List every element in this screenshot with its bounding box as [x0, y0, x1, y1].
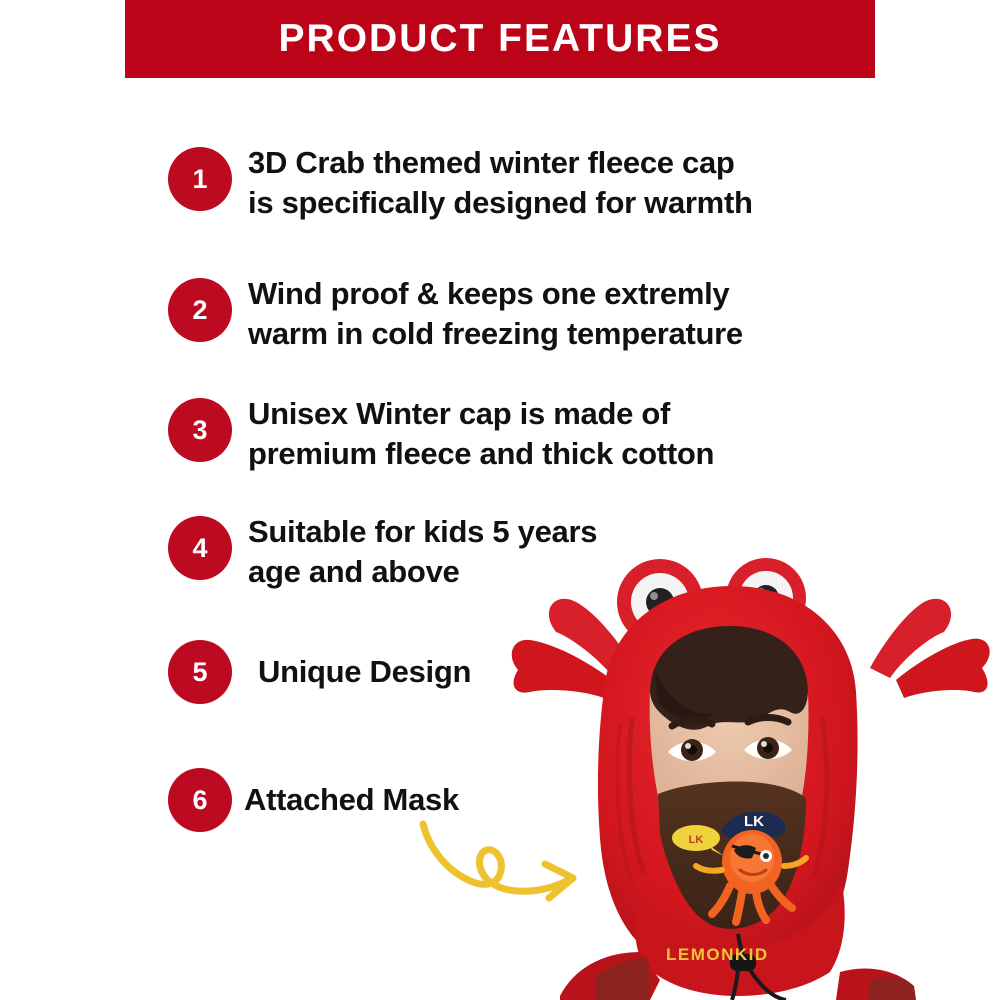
crab-claw-right [870, 599, 990, 698]
feature-text-2: Wind proof & keeps one extremly warm in … [248, 274, 743, 353]
feature-number-badge-5: 5 [168, 640, 232, 704]
feature-number-4: 4 [192, 535, 207, 562]
feature-number-2: 2 [192, 297, 207, 324]
feature-number-badge-1: 1 [168, 147, 232, 211]
feature-text-1-line1: 3D Crab themed winter fleece cap [248, 143, 753, 183]
feature-text-5-line1: Unique Design [258, 652, 471, 692]
feature-number-3: 3 [192, 417, 207, 444]
feature-number-6: 6 [192, 787, 207, 814]
feature-text-2-line1: Wind proof & keeps one extremly [248, 274, 743, 314]
feature-text-6: Attached Mask [244, 780, 459, 820]
feature-text-2-line2: warm in cold freezing temperature [248, 314, 743, 354]
product-features-infographic: PRODUCT FEATURES 1 3D Crab themed winter… [0, 0, 1000, 1000]
feature-number-badge-4: 4 [168, 516, 232, 580]
feature-text-1: 3D Crab themed winter fleece cap is spec… [248, 143, 753, 222]
feature-number-badge-3: 3 [168, 398, 232, 462]
svg-text:LK: LK [689, 834, 704, 846]
feature-text-5: Unique Design [258, 652, 471, 692]
product-photo: LK LK [500, 540, 1000, 1000]
feature-number-1: 1 [192, 166, 207, 193]
svg-text:LK: LK [744, 813, 764, 830]
feature-text-3: Unisex Winter cap is made of premium fle… [248, 394, 714, 473]
feature-text-3-line2: premium fleece and thick cotton [248, 434, 714, 474]
feature-text-6-line1: Attached Mask [244, 780, 459, 820]
feature-text-1-line2: is specifically designed for warmth [248, 183, 753, 223]
feature-number-5: 5 [192, 659, 207, 686]
feature-text-3-line1: Unisex Winter cap is made of [248, 394, 714, 434]
feature-number-badge-2: 2 [168, 278, 232, 342]
brand-text: LEMONKID [666, 945, 769, 964]
feature-number-badge-6: 6 [168, 768, 232, 832]
